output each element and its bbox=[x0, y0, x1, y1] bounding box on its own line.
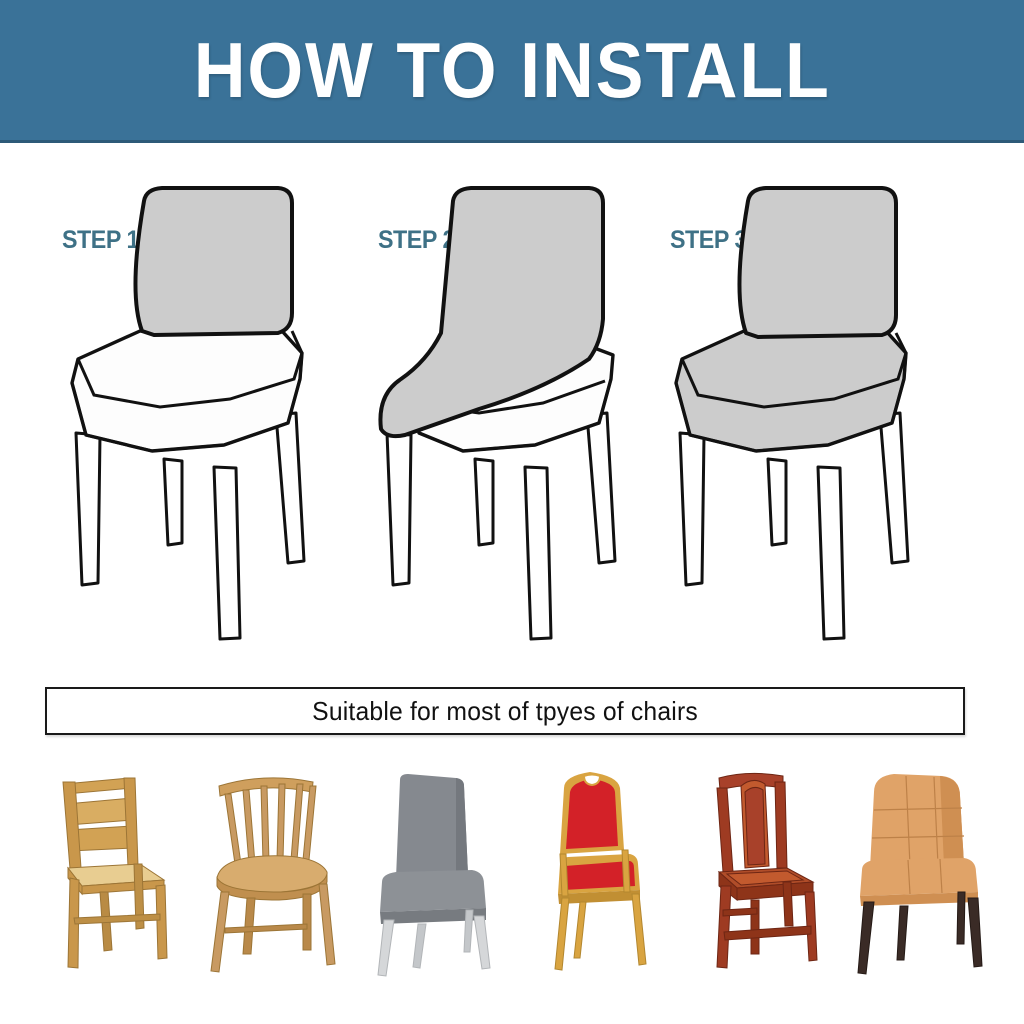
step-panel-2: STEP 2 bbox=[330, 143, 670, 673]
chair-thumb-grey-upholstered-parsons bbox=[356, 768, 506, 978]
suitable-banner: Suitable for most of tpyes of chairs bbox=[45, 687, 965, 735]
chair-thumb-red-gold-banquet bbox=[518, 768, 668, 978]
chair-thumb-mahogany-chinese-wooden bbox=[679, 768, 829, 978]
chair-thumb-tan-tufted-leather bbox=[840, 768, 990, 978]
step-panel-1: STEP 1 bbox=[6, 143, 346, 673]
chair-diagram-step-1 bbox=[64, 183, 334, 643]
tan-tufted-leather-chair-icon bbox=[840, 768, 990, 978]
mahogany-chinese-wooden-chair-icon bbox=[679, 768, 829, 978]
natural-spindle-back-chair-icon bbox=[195, 768, 345, 978]
red-gold-banquet-chair-icon bbox=[518, 768, 668, 978]
light-oak-slat-back-chair-icon bbox=[34, 768, 184, 978]
install-steps-section: STEP 1 STEP 2 bbox=[0, 143, 1024, 673]
step-panel-3: STEP 3 bbox=[640, 143, 980, 673]
header-banner: HOW TO INSTALL bbox=[0, 0, 1024, 143]
chair-diagram-step-2 bbox=[375, 183, 645, 643]
page-title: HOW TO INSTALL bbox=[194, 31, 831, 109]
chair-thumb-natural-spindle-back bbox=[195, 768, 345, 978]
chair-thumb-light-oak-slat-back bbox=[34, 768, 184, 978]
grey-upholstered-parsons-chair-icon bbox=[356, 768, 506, 978]
chair-gallery bbox=[0, 748, 1024, 978]
chair-diagram-step-3 bbox=[668, 183, 938, 643]
suitable-banner-text: Suitable for most of tpyes of chairs bbox=[312, 696, 698, 727]
